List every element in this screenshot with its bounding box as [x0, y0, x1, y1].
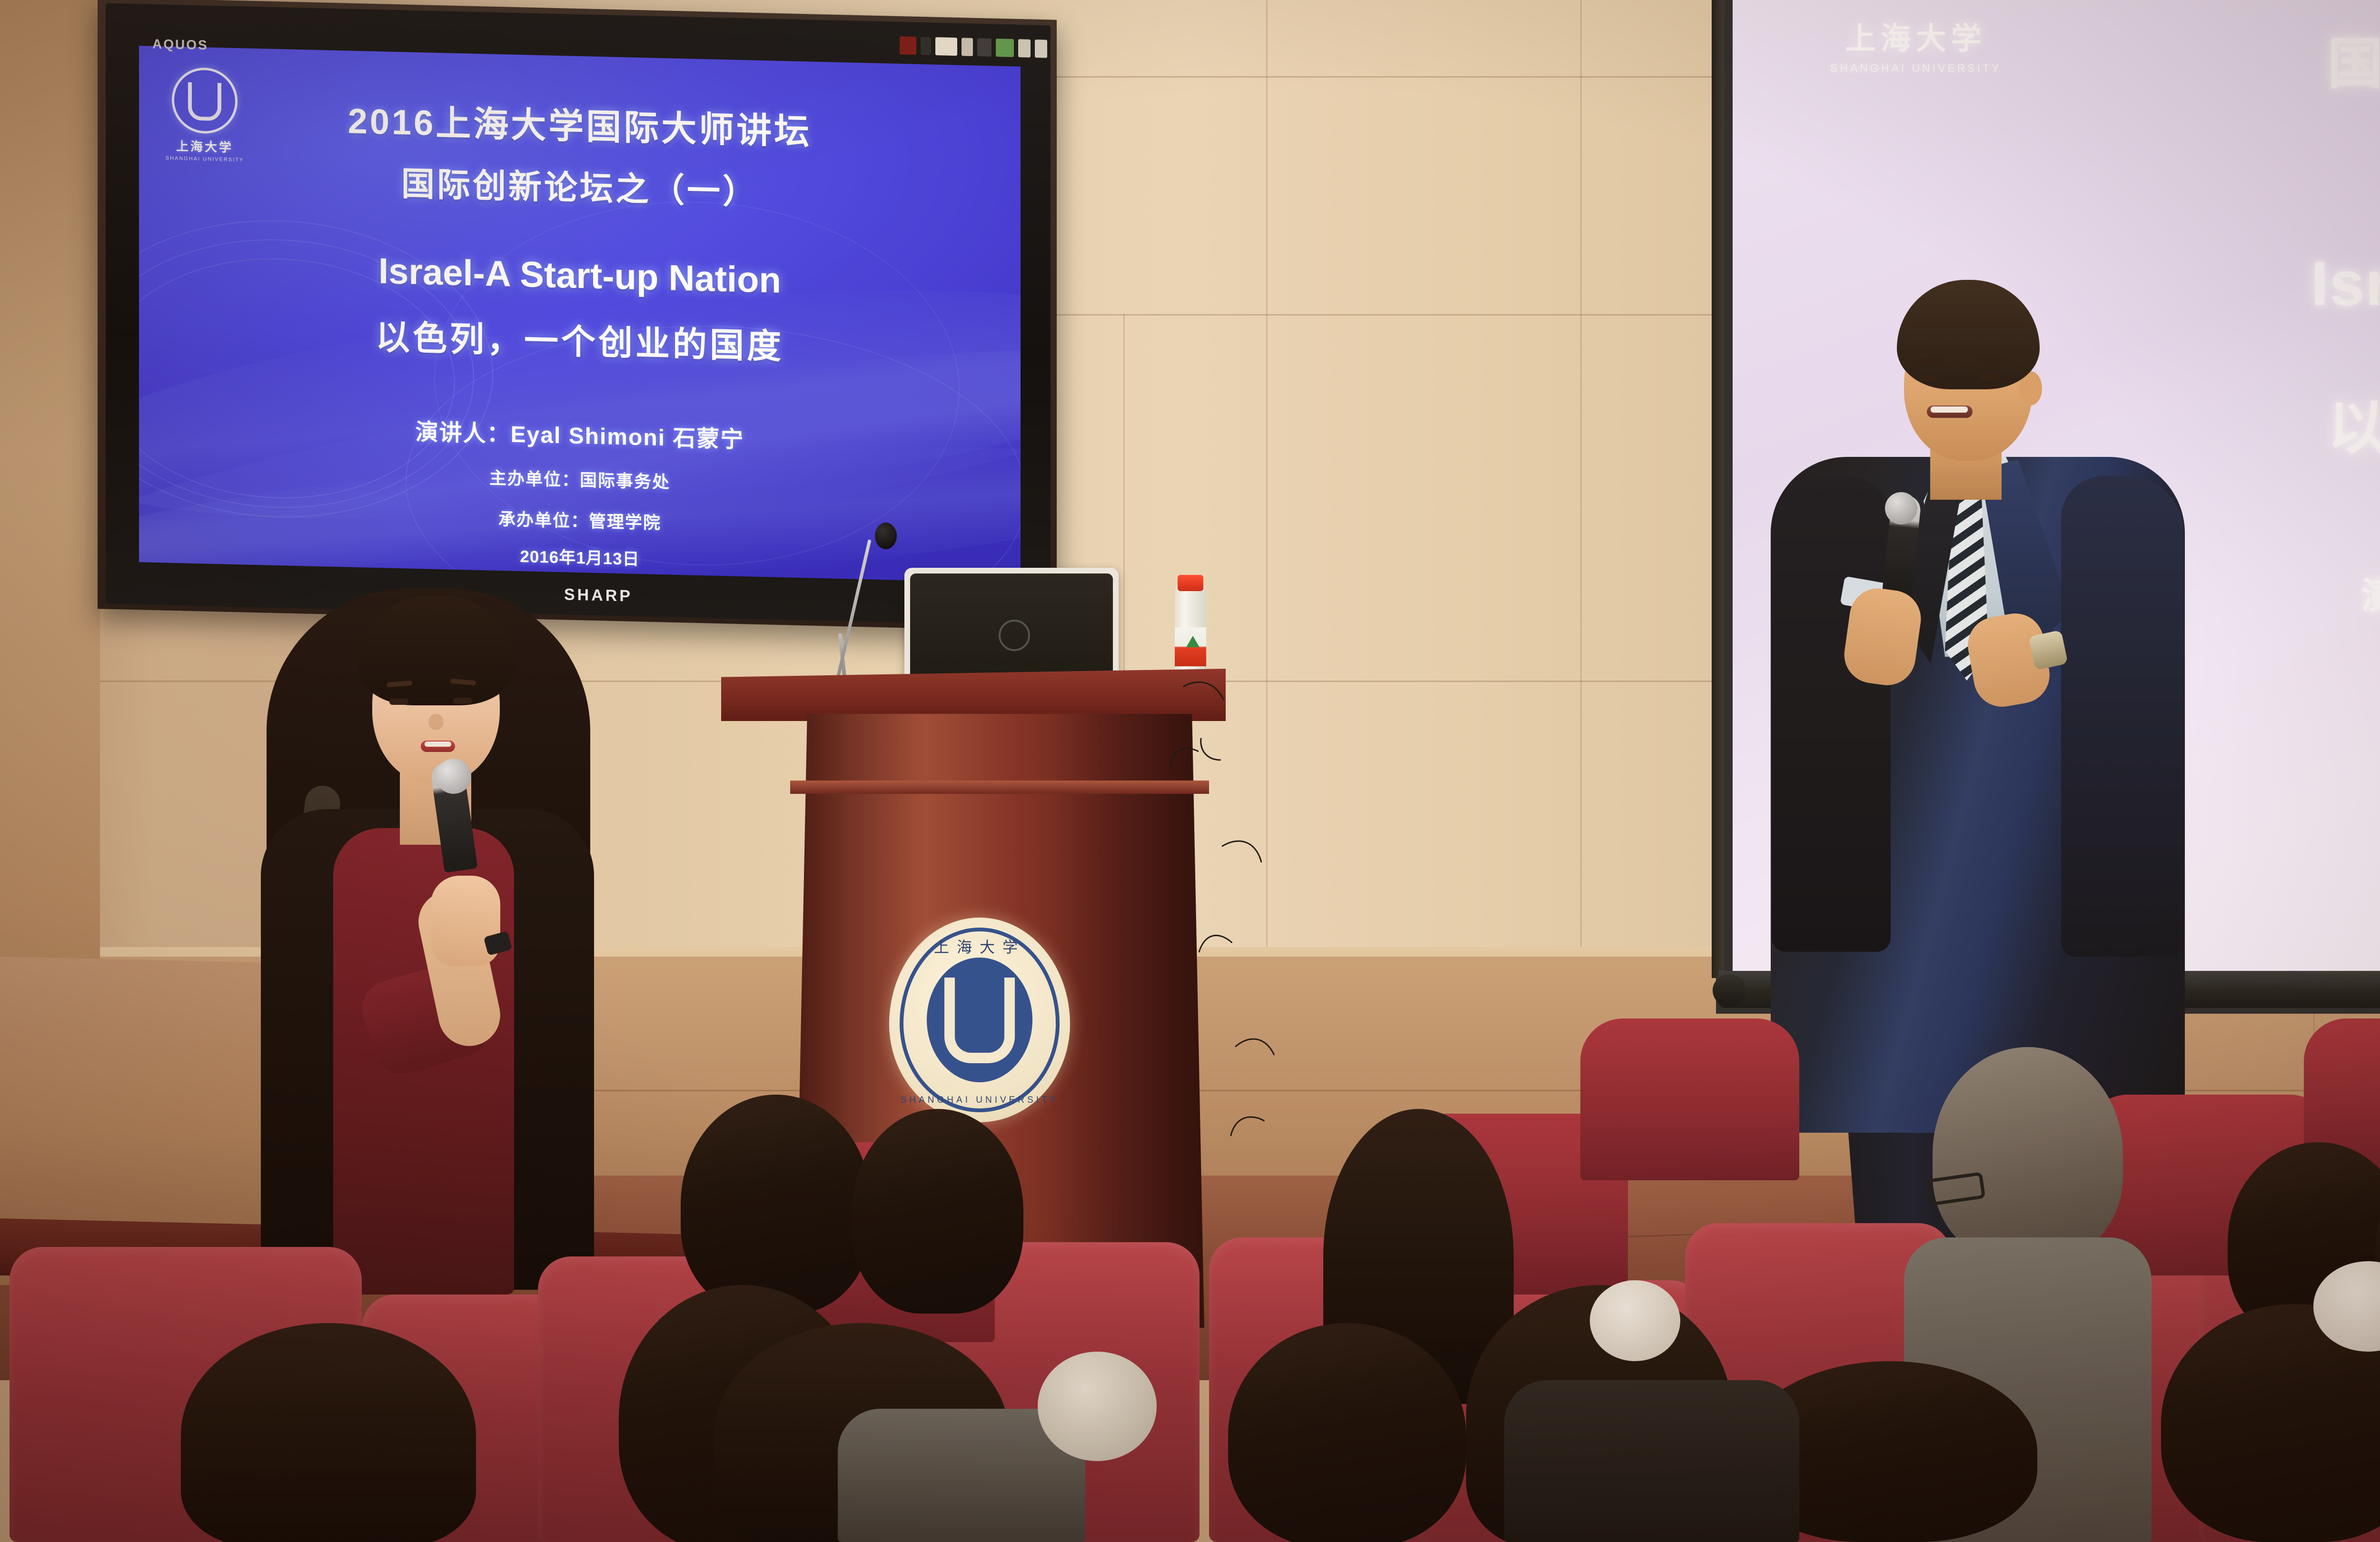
audience-head: [181, 1323, 476, 1542]
slide-speaker-line: 演讲人：Eyal Shimoni 石蒙宁: [416, 413, 744, 454]
tv-brand-sharp: SHARP: [564, 585, 633, 605]
audience-head-gray: [1933, 1047, 2123, 1261]
tv-screen-slide: 上海大学 SHANGHAI UNIVERSITY 2016上海大学国际大师讲坛 …: [139, 46, 1021, 583]
speaker-arm-right: [2061, 476, 2184, 957]
podium-crest-en: SHANGHAI UNIVERSITY: [901, 1095, 1059, 1106]
projection-university-logo: 上海大学 SHANGHAI UNIVERSITY: [1830, 14, 2002, 75]
host-eye-right: [453, 698, 472, 704]
projection-logo-cn: 上海大学: [1830, 14, 2002, 58]
projection-heading: 国际: [2328, 19, 2380, 99]
projection-title-en: Israel-: [2311, 247, 2380, 319]
tv-brand-aquos: AQUOS: [152, 37, 208, 53]
slide-heading-line2: 国际创新论坛之（一）: [401, 157, 758, 214]
slide-host-line: 承办单位：管理学院: [498, 505, 661, 534]
projection-roller-cap: [1713, 975, 1746, 1006]
host-teeth: [425, 741, 451, 747]
podium-university-crest: 上海大学 SHANGHAI UNIVERSITY: [889, 918, 1070, 1122]
laptop-brand-logo-icon: [999, 620, 1030, 651]
slide-date-line: 2016年1月13日: [520, 543, 639, 570]
speaker-eye-right: [1980, 374, 1998, 379]
speaker-microphone-head-icon: [1885, 492, 1917, 524]
audience-hood: [1038, 1352, 1157, 1461]
audience-head: [681, 1095, 871, 1314]
slide-title-en: Israel-A Start-up Nation: [378, 250, 781, 301]
podium-crest-cn: 上海大学: [934, 935, 1025, 957]
podium-crest-u-icon: [944, 978, 1015, 1063]
podium-trim-band: [790, 781, 1209, 794]
projection-title-cn: 以色列: [2328, 381, 2380, 465]
audience-head: [1228, 1323, 1466, 1542]
speaker-wristwatch: [2028, 630, 2068, 671]
water-bottle-cap: [1178, 575, 1203, 591]
slide-title-cn: 以色列，一个创业的国度: [376, 309, 784, 368]
speaker-eye-left: [1919, 376, 1937, 381]
speaker-teeth: [1931, 406, 1968, 413]
audience-head-white-hair: [1590, 1280, 1680, 1361]
projection-logo-en: SHANGHAI UNIVERSITY: [1830, 62, 2002, 75]
tv-bezel-stickers: [900, 32, 1047, 61]
audience-body: [1504, 1380, 1799, 1542]
podium-top-surface: [721, 669, 1226, 721]
gooseneck-microphone-icon: [875, 523, 897, 549]
bottle-tree-icon: [1186, 636, 1200, 647]
slide-heading-line1: 2016上海大学国际大师讲坛: [348, 93, 812, 155]
slide-organizer-line: 主办单位：国际事务处: [489, 465, 670, 494]
podium-crest-disc: [927, 958, 1032, 1082]
lecture-hall-photo: 上海大学 SHANGHAI UNIVERSITY 2016上海大学国际大师讲坛 …: [0, 0, 2380, 1542]
host-nose: [428, 714, 444, 730]
slide-content: 2016上海大学国际大师讲坛 国际创新论坛之（一） Israel-A Start…: [139, 46, 1021, 583]
seat: [1580, 1018, 1799, 1180]
host-eye-left: [389, 699, 408, 705]
projection-speaker-line: 演讲人: [2361, 566, 2380, 619]
speaker-arm-left: [1772, 476, 1891, 952]
audience-head: [852, 1109, 1023, 1314]
podium-crest-ring: 上海大学 SHANGHAI UNIVERSITY: [900, 928, 1060, 1112]
projection-screen-left-edge: [1712, 0, 1724, 978]
